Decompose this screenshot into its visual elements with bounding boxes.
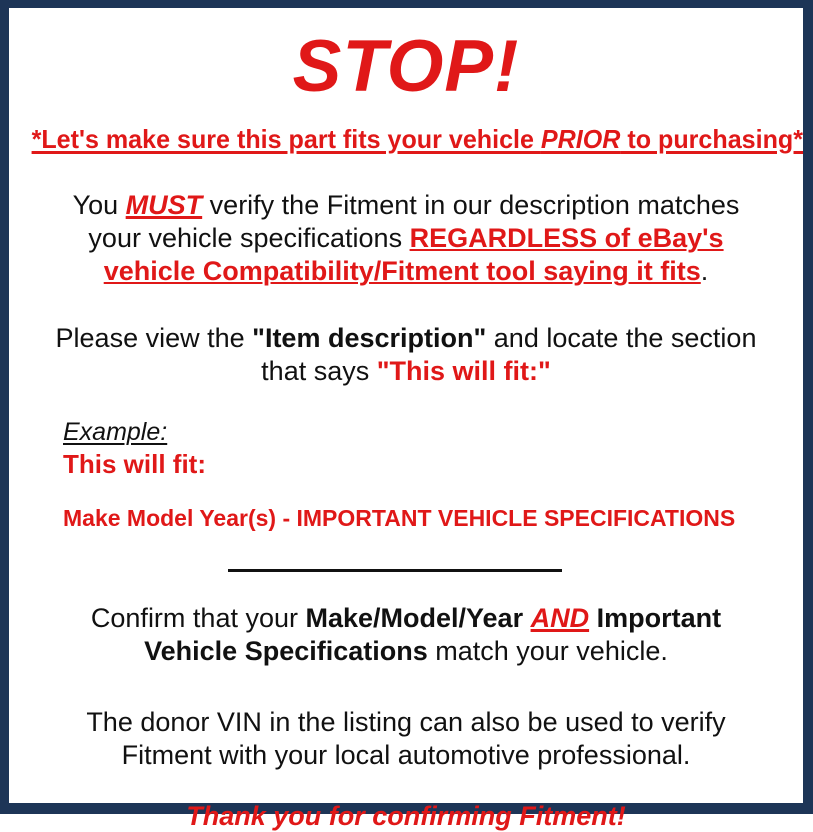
thank-you-line: Thank you for confirming Fitment! bbox=[18, 772, 794, 832]
confirm-seg5: match your vehicle. bbox=[428, 636, 668, 666]
page-title: STOP! bbox=[18, 8, 794, 103]
example-spec-line: Make Model Year(s) - IMPORTANT VEHICLE S… bbox=[63, 480, 794, 531]
confirm-and-emphasis: AND bbox=[531, 603, 590, 633]
must-verify-paragraph: You MUST verify the Fitment in our descr… bbox=[18, 153, 794, 288]
example-label: Example: bbox=[63, 418, 167, 446]
confirm-make-model-year: Make/Model/Year bbox=[305, 603, 530, 633]
subtitle-text-part1: *Let's make sure this part fits your veh… bbox=[32, 124, 541, 154]
view-para-seg1: Please view the bbox=[56, 323, 253, 353]
example-block: Example: This will fit: Make Model Year(… bbox=[18, 388, 794, 531]
divider-wrap bbox=[18, 531, 794, 577]
item-description-label: "Item description" bbox=[252, 323, 486, 353]
must-para-seg5: . bbox=[701, 256, 709, 286]
confirm-seg1: Confirm that your bbox=[91, 603, 306, 633]
this-will-fit-quote: "This will fit:" bbox=[377, 356, 551, 386]
must-emphasis: MUST bbox=[126, 190, 203, 220]
horizontal-divider bbox=[228, 569, 562, 572]
subtitle-banner: *Let's make sure this part fits your veh… bbox=[32, 103, 781, 153]
fitment-notice-panel: STOP! *Let's make sure this part fits yo… bbox=[0, 0, 813, 814]
example-this-will-fit: This will fit: bbox=[63, 446, 794, 480]
must-para-seg1: You bbox=[73, 190, 126, 220]
item-description-paragraph: Please view the "Item description" and l… bbox=[18, 288, 794, 388]
subtitle-emphasis-prior: PRIOR bbox=[541, 124, 620, 154]
confirm-paragraph: Confirm that your Make/Model/Year AND Im… bbox=[18, 577, 794, 668]
subtitle-text-part2: to purchasing* bbox=[620, 124, 803, 154]
notice-inner: STOP! *Let's make sure this part fits yo… bbox=[9, 8, 803, 803]
donor-vin-paragraph: The donor VIN in the listing can also be… bbox=[18, 668, 794, 772]
example-label-row: Example: bbox=[63, 418, 794, 446]
